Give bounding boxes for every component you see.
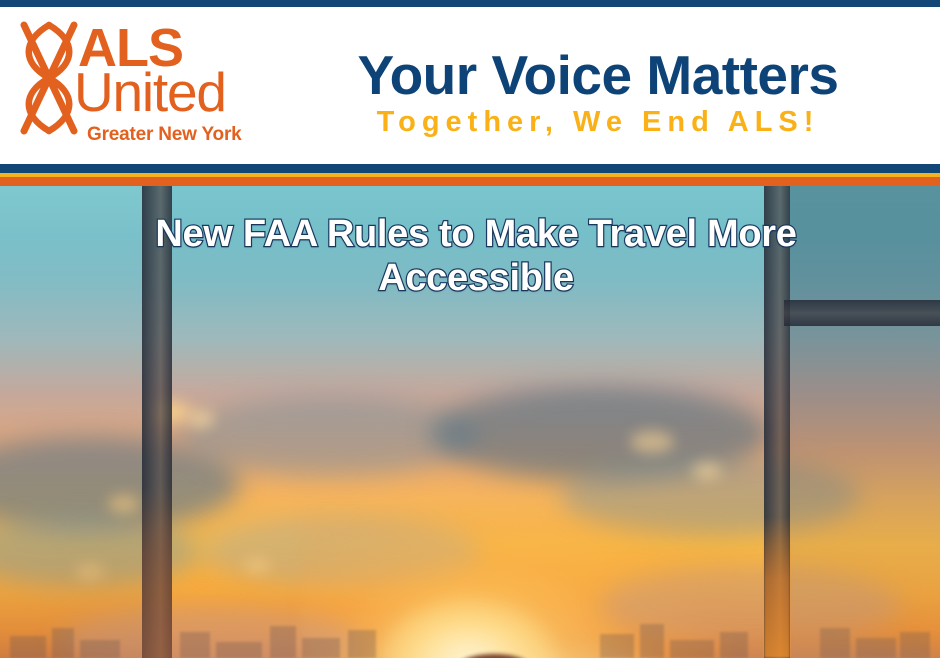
hero-title: New FAA Rules to Make Travel More Access…	[70, 212, 882, 301]
campaign-tagline: Together, We End ALS!	[268, 107, 928, 137]
dna-helix-x-icon	[16, 19, 82, 137]
divider-orange-bar	[0, 177, 940, 186]
cloud-highlight	[630, 431, 674, 453]
header-band: ALS United Greater New York Your Voice M…	[0, 7, 940, 164]
cloud-highlight	[188, 411, 214, 427]
campaign-headline: Your Voice Matters	[268, 47, 928, 105]
header-text-block: Your Voice Matters Together, We End ALS!	[268, 47, 928, 159]
divider-navy-bar	[0, 164, 940, 173]
mullion-warm-light	[142, 486, 172, 658]
window-transom-right	[784, 300, 940, 326]
logo-region-text: Greater New York	[87, 125, 242, 144]
cloud-highlight	[692, 462, 722, 480]
logo-wordmark: ALS United Greater New York	[74, 15, 280, 161]
flyer-canvas: ALS United Greater New York Your Voice M…	[0, 0, 940, 658]
hair-top-knot	[458, 654, 530, 658]
als-united-logo[interactable]: ALS United Greater New York	[16, 15, 278, 161]
mullion-warm-light	[764, 516, 790, 658]
logo-united-text: United	[74, 65, 226, 120]
cloud-highlight	[244, 558, 270, 573]
person-silhouette	[390, 654, 605, 658]
hero-photo: New FAA Rules to Make Travel More Access…	[0, 186, 940, 658]
top-accent-bar	[0, 0, 940, 7]
